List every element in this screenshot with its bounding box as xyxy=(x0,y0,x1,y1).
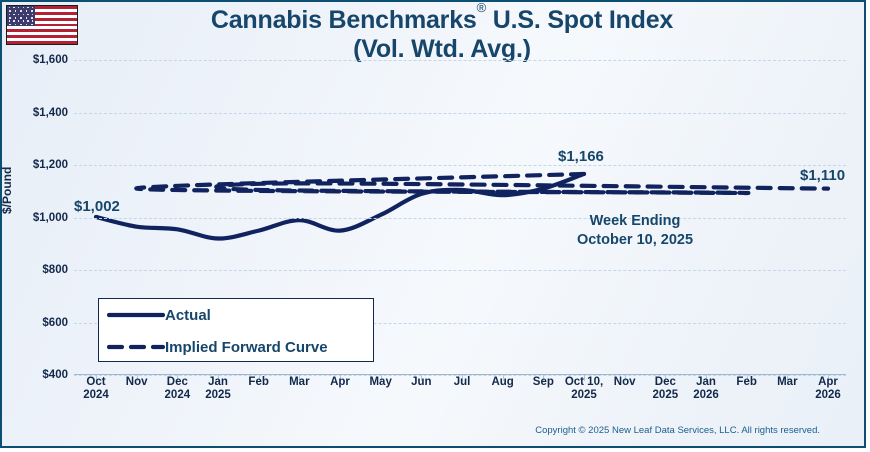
x-axis-tick-label: Feb xyxy=(736,376,756,389)
x-axis-line xyxy=(74,374,846,375)
x-axis-tick-label: Apr xyxy=(330,376,350,389)
legend-swatch-solid xyxy=(107,306,165,324)
y-axis-tick-label: $800 xyxy=(42,264,68,276)
x-axis-tick-label: Dec2024 xyxy=(165,376,191,402)
chart-card: Cannabis Benchmarks® U.S. Spot Index (Vo… xyxy=(0,0,866,448)
copyright-notice: Copyright © 2025 New Leaf Data Services,… xyxy=(535,425,820,436)
title-main-text: Cannabis Benchmarks xyxy=(211,6,477,34)
x-axis-tick-label: Feb xyxy=(248,376,268,389)
legend-item-actual: Actual xyxy=(99,299,373,331)
x-axis-tick-label: Jul xyxy=(454,376,471,389)
x-axis-tick-label: Nov xyxy=(126,376,148,389)
gridline xyxy=(74,165,846,166)
y-axis-tick-label: $1,400 xyxy=(33,107,68,119)
y-axis-tick-label: $1,600 xyxy=(33,54,68,66)
legend-label-actual: Actual xyxy=(165,307,211,324)
x-axis-tick-label: Jun xyxy=(411,376,431,389)
page-title: Cannabis Benchmarks® U.S. Spot Index (Vo… xyxy=(132,6,752,64)
chart-legend: Actual Implied Forward Curve xyxy=(98,298,374,362)
title-tail-text: U.S. Spot Index xyxy=(486,6,673,34)
legend-label-implied-forward-curve: Implied Forward Curve xyxy=(165,339,328,356)
implied-forward-curve-line xyxy=(136,174,828,193)
legend-item-implied-forward-curve: Implied Forward Curve xyxy=(99,331,373,363)
y-axis-tick-label: $1,200 xyxy=(33,159,68,171)
gridline xyxy=(74,270,846,271)
x-axis-tick-label: Mar xyxy=(289,376,309,389)
x-axis-tick-label: May xyxy=(369,376,391,389)
y-axis-labels: $400$600$800$1,000$1,200$1,400$1,600 xyxy=(2,60,68,375)
y-axis-tick-label: $600 xyxy=(42,317,68,329)
week-ending-annotation: Week Ending October 10, 2025 xyxy=(525,212,745,250)
end-value-label: $1,110 xyxy=(800,167,845,184)
y-axis-tick-label: $400 xyxy=(42,369,68,381)
y-axis-title: $/Pound xyxy=(0,167,14,214)
legend-swatch-dashed xyxy=(107,338,165,356)
x-axis-tick-label: Jan2026 xyxy=(693,376,719,402)
x-axis-tick-label: Oct2024 xyxy=(83,376,109,402)
x-axis-tick-label: Jan2025 xyxy=(205,376,231,402)
registered-mark: ® xyxy=(477,0,486,15)
week-ending-line-1: Week Ending xyxy=(525,212,745,231)
peak-value-label: $1,166 xyxy=(558,148,604,165)
x-axis-tick-label: Dec2025 xyxy=(653,376,679,402)
y-axis-tick-label: $1,000 xyxy=(33,212,68,224)
x-axis-tick-label: Nov xyxy=(614,376,636,389)
x-axis-labels: Oct2024NovDec2024Jan2025FebMarAprMayJunJ… xyxy=(74,376,846,410)
us-flag-icon xyxy=(6,5,78,45)
x-axis-tick-label: Sep xyxy=(533,376,554,389)
gridline xyxy=(74,113,846,114)
start-value-label: $1,002 xyxy=(74,198,120,215)
x-axis-tick-label: Apr2026 xyxy=(815,376,841,402)
week-ending-line-2: October 10, 2025 xyxy=(525,231,745,250)
x-axis-tick-label: Oct 10,2025 xyxy=(565,376,603,402)
title-line-1: Cannabis Benchmarks® U.S. Spot Index xyxy=(132,6,752,35)
x-axis-tick-label: Mar xyxy=(777,376,797,389)
gridline xyxy=(74,60,846,61)
flag-canton xyxy=(7,6,35,26)
x-axis-tick-label: Aug xyxy=(491,376,513,389)
